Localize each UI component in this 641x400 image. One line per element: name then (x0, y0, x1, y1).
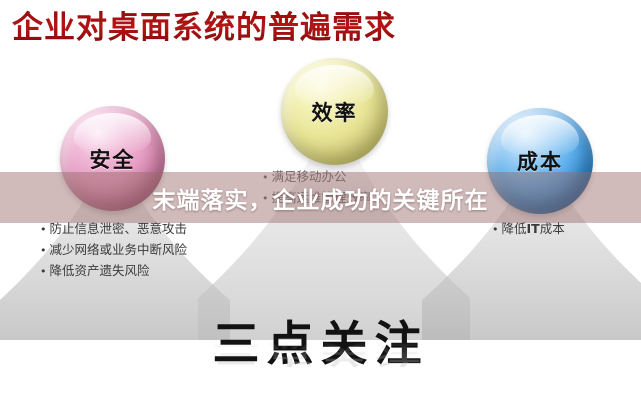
bottom-headline-reflection: 三点关注 (0, 338, 641, 368)
bullet-item: 降低资产遗失风险 (40, 261, 187, 282)
page-title: 企业对桌面系统的普遍需求 (12, 8, 396, 48)
sphere-security-label: 安全 (90, 144, 136, 174)
overlay-banner-text: 末端落实，企业成功的关键所在 (0, 172, 641, 223)
bottom-headline-block: 三点关注 三点关注 (0, 318, 641, 400)
slide-canvas: 企业对桌面系统的普遍需求 安全 效率 成本 (0, 0, 641, 400)
bullet-item: 减少网络或业务中断风险 (40, 240, 187, 261)
bullet-list-security: 防止信息泄密、恶意攻击 减少网络或业务中断风险 降低资产遗失风险 (40, 219, 187, 282)
sphere-efficiency: 效率 (281, 58, 388, 165)
sphere-efficiency-label: 效率 (312, 97, 358, 127)
